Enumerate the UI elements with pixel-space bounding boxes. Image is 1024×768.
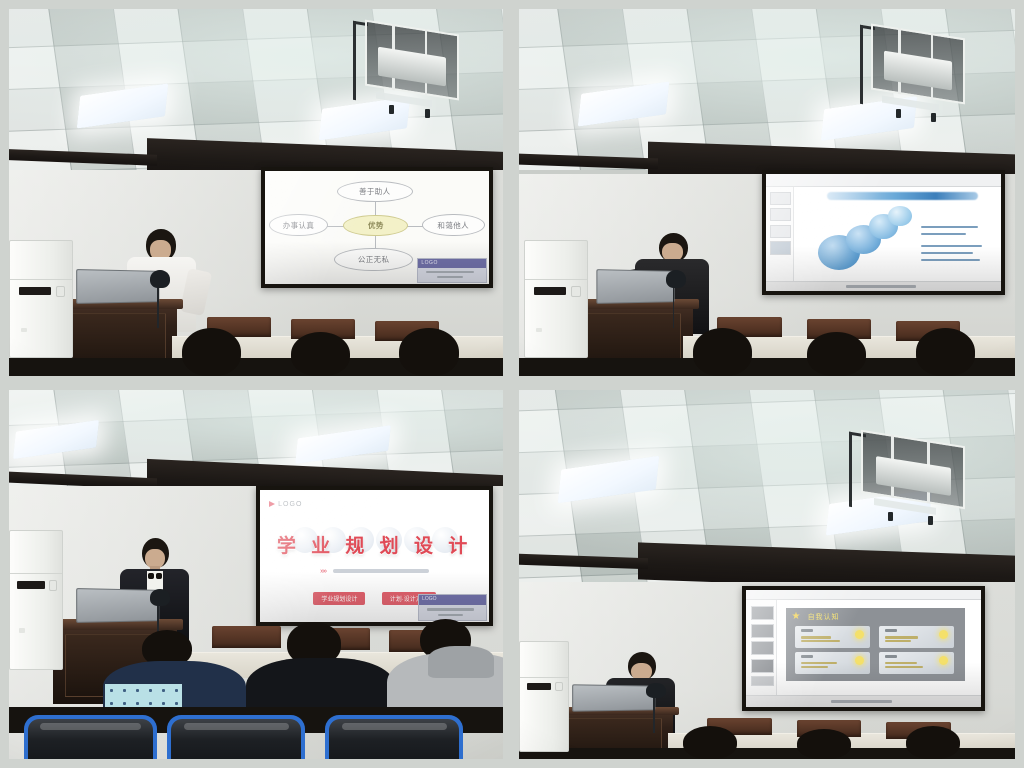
ac-knob xyxy=(571,286,580,296)
card-line xyxy=(801,666,828,668)
slide-body-line-1 xyxy=(921,226,977,229)
slide-pill-left: 学业规划设计 xyxy=(313,592,365,605)
ppt-thumbnail-1 xyxy=(751,606,775,620)
laptop-top-right xyxy=(597,269,676,304)
ac-knob xyxy=(49,580,57,591)
board-card-1 xyxy=(795,626,870,648)
slide-watermark-line-1 xyxy=(426,271,473,274)
audience-head-3 xyxy=(399,328,458,376)
projector-foot-right xyxy=(425,109,430,118)
star-icon: ★ xyxy=(791,611,800,622)
screen-surface: ★ 自我认知 xyxy=(746,590,981,707)
projection-screen: ★ 自我认知 xyxy=(742,586,985,711)
slide-subtitle-placeholder xyxy=(333,569,429,573)
slide-logo-text: LOGO xyxy=(278,501,302,508)
microphone-head-top-left xyxy=(150,270,170,288)
ceiling-projector xyxy=(365,27,459,93)
ppt-thumbnail-2 xyxy=(751,624,775,638)
laptop-top-left xyxy=(76,269,159,304)
mindmap-node-center: 优势 xyxy=(343,215,408,236)
slide-title-text: 学 业 规 划 设 计 xyxy=(260,531,489,558)
ac-vent xyxy=(536,328,542,333)
card-dot xyxy=(855,656,864,665)
photo-top-left: 善于助人 优势 办事认真 和蔼他人 公正无私 LOGO xyxy=(9,9,503,376)
ppt-thumbnail-3 xyxy=(770,225,791,238)
ac-vent xyxy=(21,328,27,333)
card-heading xyxy=(885,629,897,632)
photo-top-right xyxy=(519,9,1015,376)
mindmap-node-bottom: 公正无私 xyxy=(334,248,412,272)
slide-mind-map: 善于助人 优势 办事认真 和蔼他人 公正无私 LOGO xyxy=(265,171,489,284)
slide-watermark-box: LOGO xyxy=(417,258,486,283)
chair-highlight xyxy=(40,723,141,730)
slide-body-line-3 xyxy=(921,245,982,248)
ppt-ribbon xyxy=(766,174,1001,187)
slide-watermark-title: LOGO xyxy=(419,595,486,604)
slide-watermark-box: LOGO xyxy=(418,594,487,620)
board-card-4 xyxy=(879,652,954,674)
laptop-bottom-right xyxy=(572,684,656,711)
microphone-stand-bottom-right xyxy=(653,693,655,734)
slide-watermark-line-2 xyxy=(437,276,463,279)
card-heading xyxy=(885,655,897,658)
ac-knob xyxy=(555,682,563,691)
card-line xyxy=(801,662,837,664)
card-line xyxy=(885,636,918,638)
screen-surface: LOGO 学 业 规 划 设 计 »» xyxy=(260,490,489,622)
ppt-thumbnail-2 xyxy=(770,208,791,221)
audience-head-1 xyxy=(693,328,753,376)
card-line xyxy=(885,666,923,668)
chair-highlight xyxy=(184,723,289,730)
photo-bottom-right: ★ 自我认知 xyxy=(519,390,1015,759)
projector-foot-left xyxy=(888,512,893,521)
mindmap-node-left: 办事认真 xyxy=(269,214,327,237)
card-line xyxy=(885,662,917,664)
audience-head-1 xyxy=(182,328,241,376)
ceiling-projector xyxy=(871,31,965,97)
board-card-3 xyxy=(795,652,870,674)
slide-watermark-line-1 xyxy=(427,608,474,611)
slide-title: LOGO 学 业 规 划 设 计 »» xyxy=(260,490,489,622)
audience-head-2 xyxy=(807,332,867,376)
slide-watermark-title: LOGO xyxy=(418,259,485,268)
ac-unit-bottom-right xyxy=(519,641,569,752)
collage-panel-top-right xyxy=(511,0,1024,383)
ac-seam xyxy=(525,279,587,280)
collage-panel-bottom-left: LOGO 学 业 规 划 设 计 »» xyxy=(0,383,511,768)
card-dot xyxy=(939,656,948,665)
collage-panel-top-left: 善于助人 优势 办事认真 和蔼他人 公正无私 LOGO xyxy=(0,0,511,383)
ppt-thumbnail-3 xyxy=(751,641,775,655)
ppt-status-line xyxy=(846,285,917,288)
mindmap-node-top: 善于助人 xyxy=(337,181,413,202)
microphone-head-bottom-right xyxy=(646,683,666,698)
chair-highlight xyxy=(342,723,447,730)
slide-body-line-2 xyxy=(921,233,966,236)
card-heading xyxy=(801,629,813,632)
blue-chair-2 xyxy=(167,715,305,759)
audience-head-2 xyxy=(291,332,350,376)
board-title: 自我认知 xyxy=(808,612,840,622)
projector-foot-left xyxy=(896,109,901,118)
projector-foot-right xyxy=(931,113,936,122)
audience-head-3 xyxy=(916,328,976,376)
logo-mark-icon xyxy=(269,501,275,507)
card-dot xyxy=(939,630,948,639)
projector-foot-left xyxy=(389,105,394,114)
microphone-head-bottom-left xyxy=(150,589,170,606)
audience-head-2 xyxy=(797,729,852,759)
ppt-status-line xyxy=(831,700,892,703)
slide-powerpoint-bubbles xyxy=(766,174,1001,291)
screen-surface xyxy=(766,174,1001,291)
ppt-ribbon xyxy=(746,590,981,601)
projector-foot-right xyxy=(928,516,933,525)
ac-seam xyxy=(10,573,62,574)
ac-seam xyxy=(10,279,72,280)
ac-display-panel xyxy=(19,287,51,295)
ac-display-panel xyxy=(17,581,44,589)
photo-collage: 善于助人 优势 办事认真 和蔼他人 公正无私 LOGO xyxy=(0,0,1024,768)
mindmap-edge-top xyxy=(375,200,376,216)
ceiling-projector xyxy=(861,438,965,501)
card-line xyxy=(801,636,831,638)
projection-screen: 善于助人 优势 办事认真 和蔼他人 公正无私 LOGO xyxy=(261,167,493,288)
slide-card-board: ★ 自我认知 xyxy=(746,590,981,707)
collage-panel-bottom-right: ★ 自我认知 xyxy=(511,383,1024,768)
mindmap-node-right: 和蔼他人 xyxy=(422,214,485,237)
audience-head-1 xyxy=(683,726,738,759)
projection-screen xyxy=(762,170,1005,295)
ppt-thumbnail-1 xyxy=(770,192,791,205)
ac-knob xyxy=(56,286,65,296)
slide-logo: LOGO xyxy=(269,501,302,508)
card-heading xyxy=(801,655,813,658)
ac-seam xyxy=(520,677,568,678)
ppt-thumbnail-4 xyxy=(770,241,791,255)
ac-unit-top-left xyxy=(9,240,73,357)
ac-vent xyxy=(19,628,24,634)
card-line xyxy=(801,640,840,642)
card-line xyxy=(885,640,911,642)
ppt-thumbnail-5 xyxy=(751,676,775,685)
ac-display-panel xyxy=(534,287,566,295)
slide-watermark-line-2 xyxy=(438,614,463,617)
board-card-2 xyxy=(879,626,954,648)
ppt-thumbnail-4 xyxy=(751,659,775,673)
ppt-status-bar xyxy=(766,281,1001,292)
card-dot xyxy=(855,630,864,639)
audience-head-3 xyxy=(906,726,961,759)
ac-display-panel xyxy=(527,683,552,690)
ac-unit-bottom-left xyxy=(9,530,63,670)
chevron-icon: »» xyxy=(320,568,326,575)
slide-body-line-4 xyxy=(921,252,973,255)
projection-screen: LOGO 学 业 规 划 设 计 »» xyxy=(256,486,493,626)
laptop-bottom-left xyxy=(76,588,159,623)
slide-banner xyxy=(827,192,977,200)
bow-tie xyxy=(148,573,161,579)
bubble-4 xyxy=(888,206,912,226)
screen-surface: 善于助人 优势 办事认真 和蔼他人 公正无私 LOGO xyxy=(265,171,489,284)
blue-chair-1 xyxy=(24,715,157,759)
audience-hood xyxy=(428,646,495,678)
slide-body-line-5 xyxy=(921,259,980,262)
blue-chair-3 xyxy=(325,715,463,759)
photo-bottom-left: LOGO 学 业 规 划 设 计 »» xyxy=(9,390,503,759)
slide-subtitle-row: »» xyxy=(260,568,489,575)
ac-unit-top-right xyxy=(524,240,588,357)
slide-board: ★ 自我认知 xyxy=(786,608,965,681)
ppt-status-bar xyxy=(746,695,981,707)
microphone-head-top-right xyxy=(666,270,686,288)
